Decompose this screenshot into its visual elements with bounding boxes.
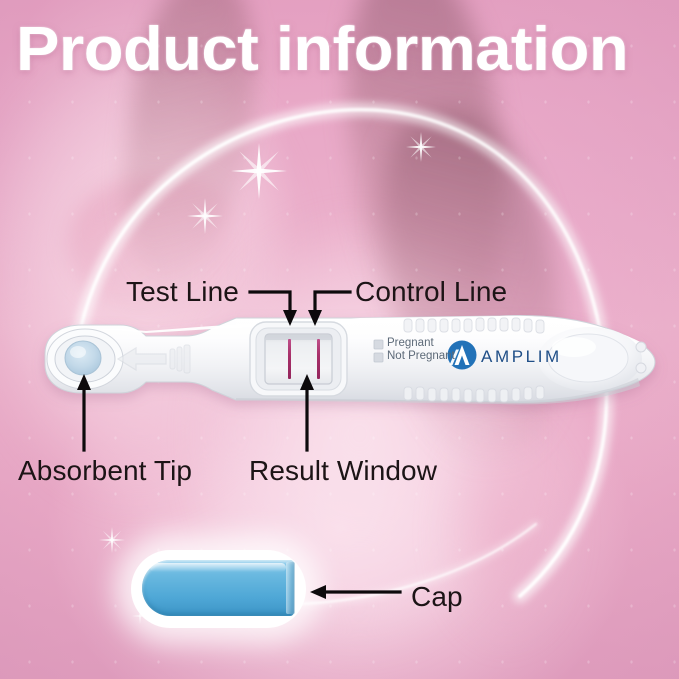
test-line-mark (288, 339, 291, 379)
cap-highlight (150, 563, 286, 572)
not-pregnant-label: Not Pregnant (387, 350, 455, 364)
label-cap: Cap (411, 581, 463, 613)
label-test-line: Test Line (126, 276, 239, 308)
brand-wordmark: AMPLIM (481, 347, 562, 367)
product-information-image: Product information (0, 0, 679, 679)
page-title: Product information (16, 18, 679, 82)
control-line-mark (317, 339, 320, 379)
label-absorbent-tip: Absorbent Tip (18, 455, 192, 487)
label-control-line: Control Line (355, 276, 507, 308)
cap-open-end (286, 562, 295, 614)
pregnant-label: Pregnant (387, 337, 434, 351)
background-dot-pattern (0, 0, 679, 679)
label-result-window: Result Window (249, 455, 437, 487)
